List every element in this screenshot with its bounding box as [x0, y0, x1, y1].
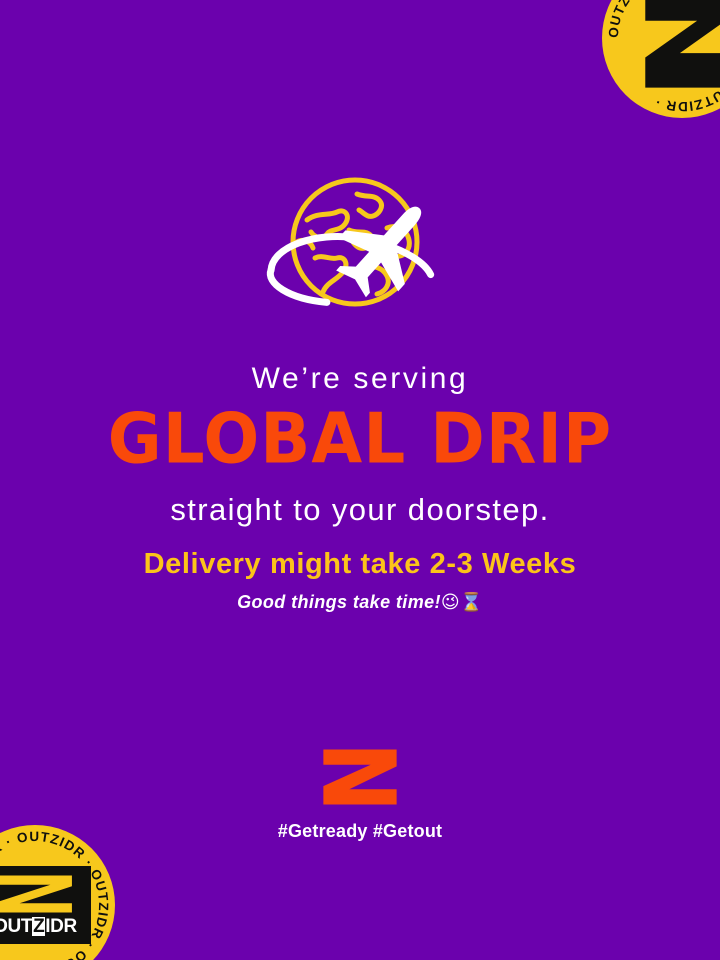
badge-core-word: OUTZIDR [0, 917, 77, 936]
delivery-tagline-emoji: 😉⌛ [441, 592, 483, 613]
badge-core-word-left: OUT [0, 916, 32, 937]
badge-core-bottom-left: OUTZIDR [0, 866, 91, 944]
badge-z-icon [0, 874, 76, 914]
outzidr-z-logo-icon [321, 748, 399, 806]
delivery-estimate: Delivery might take 2-3 Weeks [0, 550, 720, 579]
badge-core-word-mid: Z [32, 917, 45, 936]
delivery-tagline-text: Good things take time! [237, 592, 441, 612]
delivery-tagline: Good things take time!😉⌛ [0, 593, 720, 612]
page-title: GLOBAL DRIP [0, 404, 720, 473]
emblem-graphic [245, 172, 475, 332]
poster-canvas: OUTZIDR · OUTZIDR · OUTZIDR · OUTZIDR · [0, 0, 720, 960]
headline-subline: straight to your doorstep. [0, 494, 720, 525]
globe-plane-emblem [0, 172, 720, 332]
badge-core-top-right [626, 0, 720, 94]
badge-top-right: OUTZIDR · OUTZIDR · OUTZIDR · OUTZIDR · [602, 0, 720, 118]
badge-bottom-left: OUTZIDR · OUTZIDR · OUTZIDR · OUTZIDR · … [0, 825, 115, 960]
badge-core-word-right: IDR [45, 916, 77, 937]
delivery-block: Delivery might take 2-3 Weeks Good thing… [0, 550, 720, 612]
orbit-swoosh-tail [266, 270, 331, 304]
badge-glyph-icon [628, 0, 720, 92]
headline-kicker: We’re serving [0, 364, 720, 394]
headline-block: We’re serving GLOBAL DRIP straight to yo… [0, 364, 720, 525]
